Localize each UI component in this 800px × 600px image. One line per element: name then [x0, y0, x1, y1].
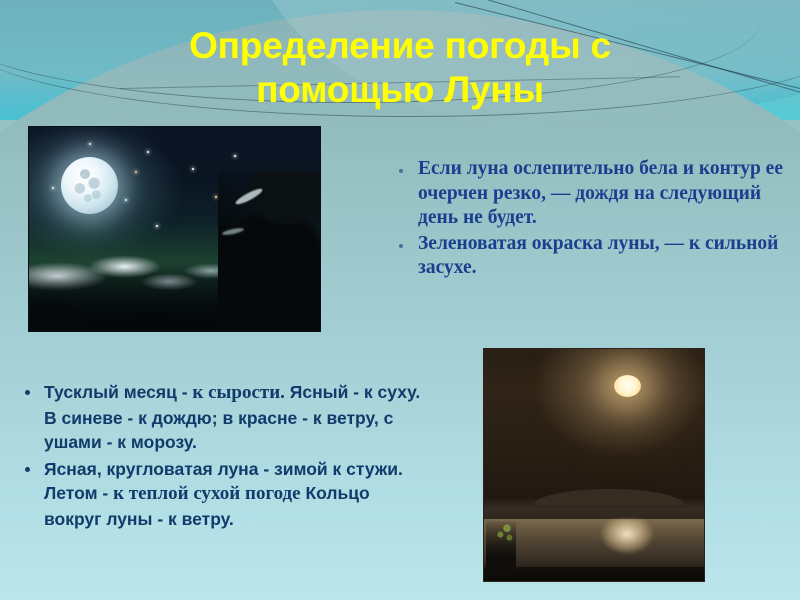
text-run: к теплой сухой погоде [113, 483, 301, 504]
star-icon [135, 171, 137, 173]
text-run: к сырости. [192, 382, 285, 403]
weather-signs-list-bottom-left: Тусклый месяц - к сырости. Ясный - к сух… [22, 380, 422, 533]
star-icon [192, 168, 194, 170]
star-icon [52, 187, 54, 189]
list-item-label: Ясная, кругловатая луна - зимой к стужи.… [44, 459, 403, 529]
bullet-dot-icon [399, 244, 403, 248]
moon-over-sea-photo [483, 348, 705, 582]
star-icon [147, 151, 149, 153]
dark-rock-formation [218, 171, 321, 332]
foreground-foliage [486, 521, 516, 573]
list-item-label: Тусклый месяц - к сырости. Ясный - к сух… [44, 382, 420, 452]
moon-over-clouds-photo [28, 126, 321, 332]
list-item: Зеленоватая окраска луны, — к сильной за… [396, 232, 786, 281]
bullet-dot-icon [25, 390, 30, 395]
star-icon [234, 155, 236, 157]
list-item-label: Зеленоватая окраска луны, — к сильной за… [418, 233, 778, 279]
bullet-list: Если луна ослепительно бела и контур ее … [396, 157, 786, 281]
dark-shoreline [484, 567, 704, 581]
list-item: Если луна ослепительно бела и контур ее … [396, 157, 786, 231]
bullet-dot-icon [25, 467, 30, 472]
bullet-dot-icon [399, 169, 403, 173]
weather-signs-list-right: Если луна ослепительно бела и контур ее … [396, 157, 786, 282]
star-icon [89, 143, 91, 145]
star-icon [125, 199, 127, 201]
star-icon [215, 196, 217, 198]
page-title: Определение погоды с помощью Луны [40, 24, 760, 112]
text-run: Тусклый месяц - [44, 382, 192, 402]
list-item-label: Если луна ослепительно бела и контур ее … [418, 158, 783, 228]
full-moon-icon [61, 157, 118, 214]
list-item: Тусклый месяц - к сырости. Ясный - к сух… [22, 380, 422, 455]
slide-canvas: Определение погоды с помощью Луны Если л… [0, 0, 800, 600]
bullet-list: Тусклый месяц - к сырости. Ясный - к сух… [22, 380, 422, 531]
moon-reflection-path [592, 519, 662, 569]
moon-glow-icon [614, 375, 641, 397]
list-item: Ясная, кругловатая луна - зимой к стужи.… [22, 457, 422, 532]
